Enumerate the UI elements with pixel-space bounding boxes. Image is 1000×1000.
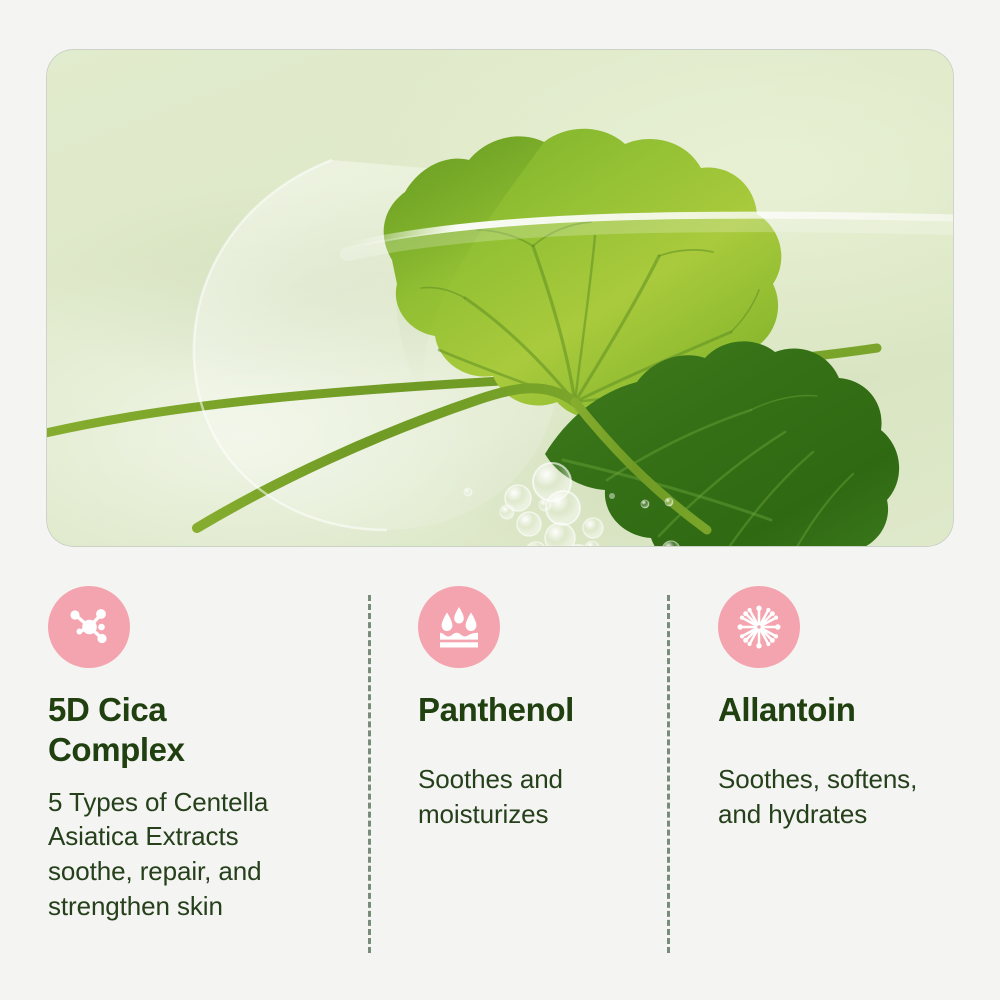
feature-icon-badge [418,586,500,668]
hero-illustration [47,50,953,546]
water-drops-layers-icon [436,605,482,649]
product-ingredient-infographic: 5D Cica Complex 5 Types of Centella Asia… [0,0,1000,1000]
feature-title: Panthenol [418,690,648,730]
feature-icon-badge [718,586,800,668]
feature-description: Soothes, softens, and hydrates [718,762,953,832]
feature-list: 5D Cica Complex 5 Types of Centella Asia… [0,586,1000,966]
hero-image [47,50,953,546]
feature-description: 5 Types of Centella Asiatica Extracts so… [48,785,338,924]
feature-description: Soothes and moisturizes [418,762,648,832]
feature-icon-badge [48,586,130,668]
feature-item-allantoin: Allantoin Soothes, softens, and hydrates [718,586,953,832]
feature-title: Allantoin [718,690,953,730]
feature-title: 5D Cica Complex [48,690,338,771]
feature-item-panthenol: Panthenol Soothes and moisturizes [418,586,648,832]
feature-item-5d-cica-complex: 5D Cica Complex 5 Types of Centella Asia… [48,586,338,924]
snowflake-burst-icon [735,603,783,651]
molecule-icon [66,604,112,650]
column-divider-1 [368,595,371,953]
column-divider-2 [667,595,670,953]
